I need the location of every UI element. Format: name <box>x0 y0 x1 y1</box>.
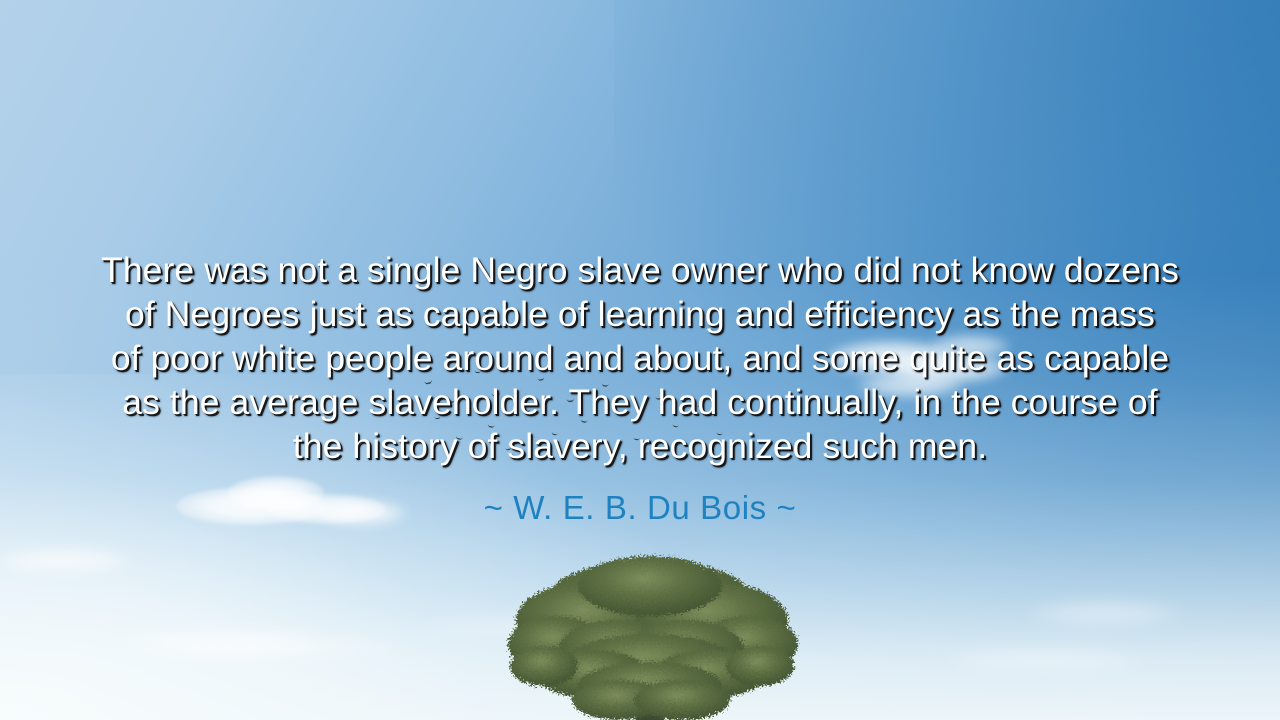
quote-card: There was not a single Negro slave owner… <box>0 248 1280 527</box>
quote-text: There was not a single Negro slave owner… <box>62 248 1218 468</box>
quote-card-screen: There was not a single Negro slave owner… <box>0 0 1280 720</box>
quote-attribution: ~ W. E. B. Du Bois ~ <box>62 489 1218 527</box>
